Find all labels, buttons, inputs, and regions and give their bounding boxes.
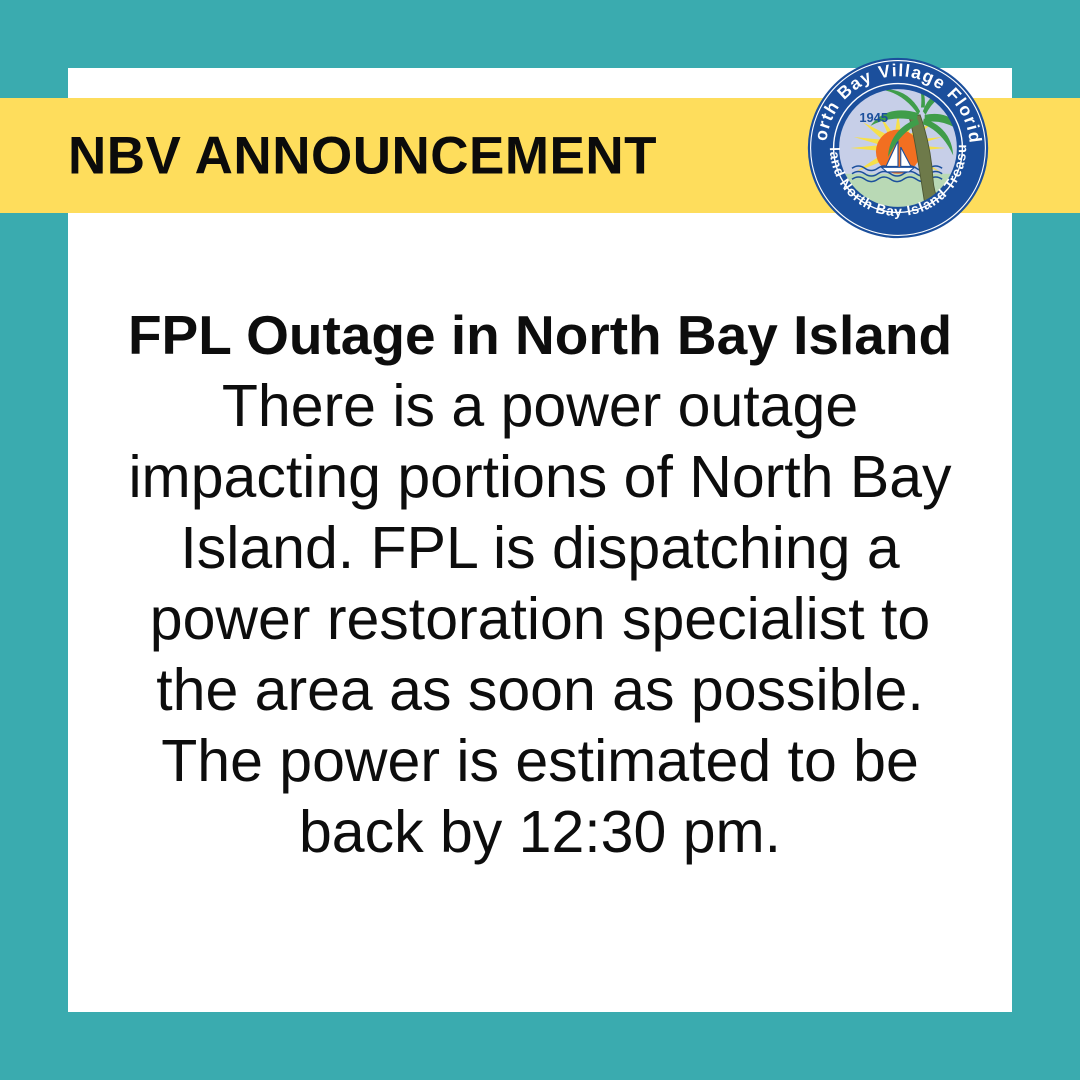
announcement-body: FPL Outage in North Bay Island There is … [68, 300, 1012, 868]
body-line: There is a power outage [68, 371, 1012, 442]
body-line: impacting portions of North Bay [68, 442, 1012, 513]
body-headline: FPL Outage in North Bay Island [68, 300, 1012, 371]
body-line: The power is estimated to be [68, 726, 1012, 797]
body-line: the area as soon as possible. [68, 655, 1012, 726]
body-line: Island. FPL is dispatching a [68, 513, 1012, 584]
north-bay-village-seal-logo: North Bay Village Florida Harbor Island … [806, 56, 990, 240]
announcement-poster: NBV ANNOUNCEMENT [0, 0, 1080, 1080]
body-line: power restoration specialist to [68, 584, 1012, 655]
body-line: back by 12:30 pm. [68, 797, 1012, 868]
banner-title: NBV ANNOUNCEMENT [68, 129, 657, 182]
seal-year-text: 1945 [859, 110, 888, 125]
